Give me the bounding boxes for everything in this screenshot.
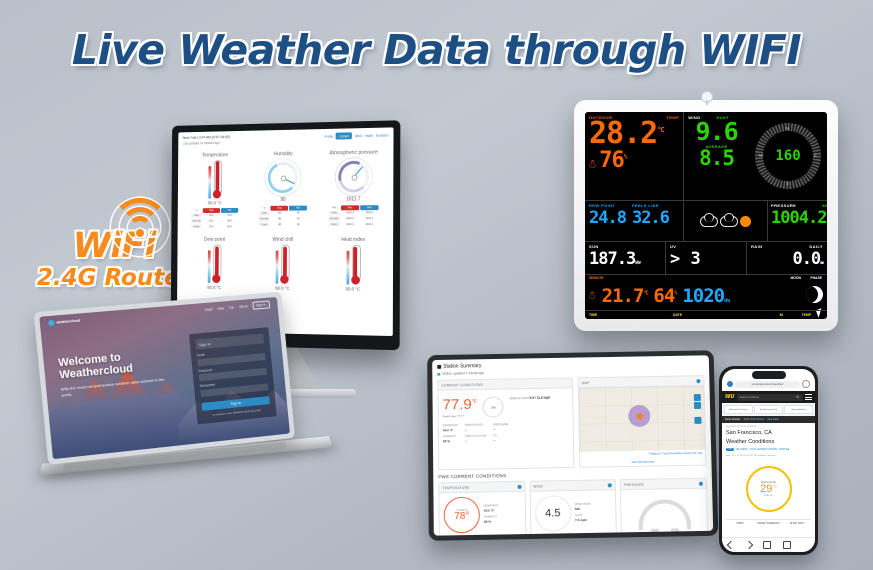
- page-title: Live Weather Data through WIFI: [0, 26, 873, 74]
- card-heat-index: Heat index 50.0 °C: [317, 234, 389, 292]
- card-temperature: Temperature 50.0 °C °C Max Min: [181, 149, 249, 229]
- stat-precip: PRECIP RATE--PRECIP ACCUM--: [465, 423, 486, 444]
- row-period: Daily: [259, 211, 270, 216]
- last-updated-text: Last updated 14 minutes ago: [183, 140, 230, 146]
- wind-gust-value: 9.6: [688, 120, 745, 144]
- header-text: WIND: [533, 484, 543, 488]
- pressure-minmax-table: hPa Max Min Daily1013.31011.4 Monthly101…: [328, 205, 378, 227]
- row-min: 46.0: [221, 219, 238, 223]
- card-body: 4.5 WIND FROM SW GUST 7.6 mph: [530, 490, 616, 535]
- search-placeholder: Search Locations: [740, 396, 759, 399]
- wind-direction-value: 160: [775, 148, 800, 164]
- view-wundermap-link[interactable]: View Wundermap: [580, 457, 705, 467]
- weather-station-console: OUTDOOR TEMP 28.2°C ☃ 76%: [574, 100, 838, 331]
- lcd-row-sun-uv-rain: SUN 187.3W/m² UV > 3 RAIN DAILY 0.0mm: [585, 242, 827, 275]
- stat-pressure: PRESSURE--UV--: [493, 422, 509, 443]
- table-row: Yearly1013.31011.4: [328, 222, 378, 227]
- dew-panel: DEW POINT 24.8 FEELS LIKE 32.6: [585, 201, 684, 241]
- thermometer-icon: [276, 245, 289, 284]
- lcd-row-clock: TIME DATE IN TEMP 10:58 FRI 1909 27.3°C6…: [585, 311, 827, 319]
- pressure-value: 1004.2hPa: [771, 208, 827, 228]
- heat-index-value: 50.0 °C: [317, 286, 389, 292]
- outdoor-humidity-unit: %: [624, 153, 627, 160]
- zoom-in-button[interactable]: [694, 394, 701, 401]
- tab-today[interactable]: TODAY: [726, 520, 754, 528]
- stat-value: 7.6 mph: [575, 518, 591, 524]
- card-title: Dew point: [181, 237, 248, 243]
- min-header: Min: [360, 205, 378, 210]
- forecast-icons: [684, 201, 767, 241]
- pressure-gauge: [335, 157, 372, 195]
- header-text: CURRENT CONDITIONS: [441, 382, 483, 387]
- tab-profile[interactable]: Profile: [325, 134, 334, 138]
- nav-about[interactable]: About: [239, 304, 248, 309]
- temperature-stats: DEWPOINT 59.2 °F HUMIDITY 88 %: [484, 503, 499, 525]
- temp-label: TEMP: [667, 115, 680, 120]
- station-location: New York | 3:47 AM (UTC-04:00) Last upda…: [183, 135, 230, 146]
- info-icon[interactable]: [608, 483, 612, 487]
- pressure-dial: [638, 499, 691, 530]
- row-period: Yearly: [259, 222, 270, 226]
- browser-toolbar[interactable]: [722, 537, 815, 552]
- row-max: 1013.3: [341, 216, 359, 221]
- date-label: DATE: [673, 313, 682, 317]
- header-text: TEMPERATURE: [442, 485, 469, 489]
- coordinates-text: See 98701, 37.78 N, 122.69 W: [726, 426, 811, 428]
- online-dot-icon: [437, 372, 440, 375]
- laptop-screen: weathercloud Maps Map Top About Sign in …: [39, 297, 290, 459]
- max-header: Max: [341, 205, 359, 210]
- humidity-gauge: [265, 158, 301, 195]
- tabs-icon[interactable]: [803, 542, 809, 548]
- summary-row: CURRENT CONDITIONS 77.9°F Feels Like 77.…: [437, 375, 706, 470]
- phone-screen: wunderground.com/weather/ WU Search Loca…: [722, 369, 815, 552]
- header-text: MAP: [582, 381, 590, 385]
- wind-gust-value: 6.9 / 11.6 mph: [530, 396, 551, 400]
- humidity-value: 90: [249, 196, 318, 202]
- card-humidity: Humidity 90 % Max M: [248, 147, 318, 228]
- row-max: 50.2: [203, 213, 220, 217]
- poster-stage: Live Weather Data through WIFI WiFi 2.4G…: [0, 0, 873, 570]
- min-header: Min: [289, 205, 307, 210]
- row-max: 98: [271, 222, 289, 227]
- row-max: 98: [271, 217, 289, 222]
- row-max: 98: [271, 211, 289, 216]
- alert-link-view[interactable]: View Alerts: [767, 419, 778, 421]
- stat-dewpoint: DEWPOINT59.2 °FHUMIDITY88 %: [443, 423, 458, 444]
- outdoor-temp-unit: °C: [657, 126, 663, 134]
- card-title: Wind chill: [248, 237, 317, 243]
- lcd-row-outdoor-wind: OUTDOOR TEMP 28.2°C ☃ 76%: [585, 112, 827, 201]
- outdoor-temp-value: 28.2: [589, 116, 657, 151]
- nav-maps[interactable]: Maps: [204, 307, 212, 312]
- sensor-icon: ☃: [589, 289, 596, 302]
- row-max: 50.2: [203, 219, 220, 223]
- card-body: CURRENT 78° DEWPOINT 59.2 °F HUMIDITY 88…: [439, 492, 525, 536]
- sensor-temperature: 21.7°C: [602, 285, 648, 307]
- stat-value: SW: [575, 507, 591, 513]
- title-text: Station Summary: [443, 363, 481, 370]
- row-max: 1013.3: [341, 211, 359, 216]
- dew-point-value: 24.8: [589, 208, 626, 228]
- row-period: Yearly: [328, 222, 339, 227]
- card-body: 77.9°F Feels Like 77.7 ° SW WIND & GUST …: [438, 388, 572, 423]
- thermometer-icon: [346, 245, 360, 285]
- row-period: Monthly: [259, 217, 270, 221]
- station-icon: [437, 365, 441, 369]
- row-max: 50.2: [203, 224, 220, 228]
- wind-speed-value: 4.5: [545, 507, 561, 519]
- wu-logo[interactable]: WU: [725, 394, 735, 400]
- table-row: Daily9890: [259, 211, 308, 216]
- temperature-value: 29°C: [760, 484, 777, 496]
- row-period: Monthly: [191, 219, 202, 223]
- row-min: 1011.4: [360, 216, 378, 221]
- alert-link-advisory[interactable]: Small Craft Advisory: [744, 419, 765, 421]
- home-icon[interactable]: [763, 541, 771, 549]
- sensor-humidity: 64%: [653, 285, 676, 307]
- url-text[interactable]: wunderground.com/weather/: [735, 381, 800, 388]
- tab-evolution[interactable]: Evolution: [376, 133, 389, 137]
- pws-temperature-card: TEMPERATURE CURRENT 78° DEWPOINT 59.2 °F…: [438, 481, 526, 536]
- tab-hourly[interactable]: HOURLY FORECAST: [754, 520, 782, 528]
- weathercloud-logo[interactable]: weathercloud: [48, 317, 80, 326]
- lcd-display: OUTDOOR TEMP 28.2°C ☃ 76%: [585, 112, 827, 319]
- row-min: 90: [289, 211, 307, 216]
- nav-signin-button[interactable]: Sign in: [252, 300, 270, 309]
- moon-label: MOON: [790, 276, 801, 280]
- table-row: Monthly9890: [259, 216, 308, 221]
- cloud-icon: [720, 216, 738, 227]
- card-pressure: Atmospheric pressure 1011.7 hPa Max: [318, 146, 390, 229]
- card-body: [621, 489, 707, 535]
- map-controls[interactable]: [694, 394, 702, 424]
- table-row: Monthly50.246.0: [191, 219, 238, 224]
- pressure-panel: PRESSURE ABS 1004.2hPa: [767, 201, 827, 241]
- feels-like-text: Feels Like 77.7 °: [443, 414, 477, 419]
- stat-value: 59.2 °F: [484, 508, 499, 514]
- card-title: Temperature: [182, 151, 249, 158]
- max-header: Max: [271, 205, 289, 210]
- pws-cards-row: TEMPERATURE CURRENT 78° DEWPOINT 59.2 °F…: [438, 478, 708, 536]
- card-title: Humidity: [249, 150, 318, 157]
- reload-icon[interactable]: [802, 380, 810, 388]
- row-min: 90: [289, 222, 307, 227]
- current-temperature: 77.9°F: [443, 397, 477, 412]
- in-label: IN: [780, 313, 783, 317]
- phase-label: PHASE: [810, 276, 822, 280]
- table-row: Yearly9890: [259, 222, 308, 227]
- map-card: MAP © Mapbox © OpenStreetMap Improve thi…: [578, 375, 707, 468]
- info-icon[interactable]: [517, 484, 521, 488]
- stat-label: WIND FROM: [575, 503, 591, 506]
- zoom-out-button[interactable]: [694, 402, 701, 409]
- row-min: 1011.4: [360, 222, 378, 227]
- site-navbar: weathercloud Maps Map Top About Sign in: [39, 297, 278, 330]
- in-temp-label: TEMP: [802, 313, 811, 317]
- weather-forecast-panel: PRESSURE ABS 1004.2hPa: [684, 201, 827, 241]
- search-input[interactable]: Search Locations 🔍: [737, 394, 803, 401]
- wifi-router-badge: WiFi 2.4G Router: [34, 196, 194, 291]
- unit-label: °C: [191, 209, 202, 212]
- time-label: TIME: [589, 313, 597, 317]
- thermometer-icon: [208, 245, 221, 284]
- wind-direction-text: SW: [491, 405, 496, 409]
- row-period: Daily: [328, 211, 339, 216]
- promo-chips[interactable]: Hurricane & Tropical San Francisco City …: [722, 403, 815, 416]
- uv-panel: UV > 3: [666, 242, 747, 274]
- chip-severe[interactable]: Severe Weather: [784, 405, 813, 414]
- row-max: 1013.3: [341, 222, 359, 227]
- cloud-icon: [700, 216, 718, 227]
- card-title: Heat index: [318, 237, 390, 243]
- feels-like-value: 32.6: [632, 208, 669, 228]
- alert-text: Active Advisory: [725, 419, 741, 421]
- rain-panel: RAIN DAILY 0.0mm: [747, 242, 827, 274]
- outdoor-panel: OUTDOOR TEMP 28.2°C ☃ 76%: [585, 112, 684, 200]
- wind-direction-dial: SW: [483, 396, 504, 417]
- bookmarks-icon[interactable]: [783, 541, 791, 549]
- menu-icon[interactable]: [805, 394, 812, 400]
- min-header: Min: [221, 208, 238, 213]
- shield-icon[interactable]: [727, 381, 733, 387]
- card-wind-chill: Wind chill 50.0 °C: [248, 234, 318, 291]
- hero-block: Welcome to Weathercloud With the most co…: [58, 348, 173, 399]
- search-icon[interactable]: 🔍: [797, 396, 800, 399]
- uv-value: > 3: [670, 249, 742, 269]
- wind-values: WIND GUST 9.6 AVERAGE 8.5: [684, 112, 749, 200]
- unit-label: %: [259, 206, 270, 209]
- condition-stats: DEWPOINT59.2 °FHUMIDITY88 % PRECIP RATE-…: [439, 421, 573, 449]
- row-min: 46.0: [221, 213, 238, 217]
- lcd-row-sensor: SENSOR ☃ 21.7°C 64% 1020hPa MOON PHASE: [585, 275, 827, 311]
- moon-phase-icon: [806, 286, 823, 303]
- tab-inside[interactable]: Inside: [365, 133, 373, 137]
- bottom-cards-row: Dew point 50.0 °C Wind chill: [177, 232, 393, 292]
- wu-header: WU Search Locations 🔍: [722, 391, 815, 403]
- antenna-icon: [701, 91, 713, 103]
- temperature-ring: Mostly Cloudy 29°C LIKE 29°: [746, 466, 792, 512]
- compass-icon: N S W E 160: [755, 123, 821, 189]
- row-period: Daily: [191, 213, 202, 217]
- tablet-screen: Station Summary Online, updated 1 minute…: [432, 355, 713, 535]
- card-title: Atmospheric pressure: [318, 149, 389, 156]
- temperature-minmax-table: °C Max Min Daily50.246.0 Monthly50.246.0…: [191, 208, 238, 229]
- tablet: Station Summary Online, updated 1 minute…: [427, 350, 718, 541]
- stat-label: DEWPOINT: [484, 504, 499, 507]
- wind-panel: WIND GUST 9.6 AVERAGE 8.5 N S: [684, 112, 827, 200]
- comfort-icon: ☃: [589, 157, 596, 171]
- row-min: 1011.4: [360, 211, 378, 216]
- solar-panel: SUN 187.3W/m²: [585, 242, 666, 274]
- layers-button[interactable]: [694, 417, 701, 424]
- sensor-label: SENSOR: [589, 276, 603, 280]
- temp-block: 77.9°F Feels Like 77.7 °: [443, 397, 477, 418]
- station-badge: PWS: [726, 448, 734, 451]
- chip-city[interactable]: San Francisco City: [754, 405, 783, 414]
- back-icon[interactable]: [727, 541, 735, 549]
- station-name[interactable]: VAN NESS - CIVIC CENTER STATION | CHANGE: [736, 448, 790, 451]
- pressure-value: 1011.7: [318, 196, 389, 202]
- table-row: Yearly50.246.0: [191, 224, 238, 228]
- table-row: Monthly1013.31011.4: [328, 216, 378, 221]
- wind-stats: WIND FROM SW GUST 7.6 mph: [575, 502, 591, 524]
- pws-pressure-card: PRESSURE: [620, 478, 708, 536]
- forward-icon[interactable]: [744, 541, 752, 549]
- table-row: Daily50.246.0: [191, 213, 238, 218]
- tab-current[interactable]: Current: [336, 132, 352, 139]
- wind-speed-dial: 4.5: [534, 495, 571, 532]
- stat-label: GUST: [575, 514, 583, 517]
- top-cards-row: Temperature 50.0 °C °C Max Min: [178, 144, 394, 229]
- tab-wind[interactable]: Wind: [355, 134, 362, 138]
- compass-s: S: [786, 181, 789, 186]
- header-text: PRESSURE: [624, 482, 644, 486]
- outdoor-temperature: 28.2°C: [589, 120, 679, 149]
- nav-top[interactable]: Top: [229, 305, 235, 309]
- compass-e: E: [814, 153, 817, 158]
- feels-like-label: LIKE 29°: [764, 495, 773, 497]
- thermometer-icon: [208, 160, 221, 198]
- current-conditions-card: CURRENT CONDITIONS 77.9°F Feels Like 77.…: [437, 377, 574, 470]
- outdoor-humidity-value: 76: [599, 148, 624, 173]
- compass-n: N: [786, 126, 789, 131]
- location-heading: San Francisco, CA: [726, 430, 811, 437]
- clock-time: 10:58: [589, 318, 647, 319]
- wind-gust-label: WIND & GUST: [510, 396, 529, 400]
- laptop-lid: weathercloud Maps Map Top About Sign in …: [34, 292, 295, 465]
- signin-form[interactable]: Sign in Email Password Remember Sign in …: [189, 327, 277, 424]
- temperature-ring: CURRENT 78°: [444, 497, 481, 534]
- row-min: 90: [289, 216, 307, 221]
- sensor-pressure: 1020hPa: [682, 285, 729, 307]
- laptop: weathercloud Maps Map Top About Sign in …: [28, 287, 339, 544]
- info-icon[interactable]: [699, 481, 703, 485]
- unit-label: hPa: [328, 206, 339, 209]
- map-canvas[interactable]: [579, 386, 705, 452]
- solar-value: 187.3W/m²: [589, 249, 661, 269]
- station-selector[interactable]: PWS VAN NESS - CIVIC CENTER STATION | CH…: [726, 448, 811, 451]
- rain-label: RAIN: [751, 244, 762, 249]
- conditions-heading: Weather Conditions: [726, 439, 811, 446]
- humidity-minmax-table: % Max Min Daily9890 Monthly9890 Yearly98…: [259, 205, 308, 226]
- elevation-note: Elev 217 ft, 37.78 °N, 122.42 °W | Updat…: [726, 455, 811, 458]
- wind-compass-area: N S W E 160: [749, 112, 827, 200]
- dew-point-value: 50.0 °C: [181, 285, 248, 291]
- compass-w: W: [759, 153, 763, 158]
- stat-value: 88 %: [484, 520, 499, 526]
- outdoor-humidity: 76%: [599, 151, 626, 172]
- chip-hurricane[interactable]: Hurricane & Tropical: [724, 405, 753, 414]
- status-text: Online, updated 1 minute ago: [442, 371, 484, 376]
- phone-notch: [752, 371, 786, 379]
- nav-map[interactable]: Map: [217, 306, 224, 310]
- smartphone: wunderground.com/weather/ WU Search Loca…: [719, 366, 818, 555]
- dashboard-tabs[interactable]: Profile Current Wind Inside Evolution: [325, 131, 389, 139]
- temperature-value: 50.0 °C: [181, 200, 248, 205]
- table-row: Daily1013.31011.4: [328, 211, 378, 216]
- sun-icon: [740, 216, 751, 227]
- pws-wind-card: WIND 4.5 WIND FROM SW GUST 7.6 mph: [529, 479, 617, 535]
- logo-text: weathercloud: [56, 318, 80, 324]
- row-period: Yearly: [191, 224, 202, 228]
- tab-ten-day[interactable]: 10 DAY FCST: [783, 520, 811, 528]
- logo-mark-icon: [48, 319, 55, 326]
- ring-value: 78°: [454, 511, 469, 521]
- hero-title: Welcome to Weathercloud: [58, 348, 171, 382]
- max-header: Max: [203, 208, 220, 213]
- card-dew-point: Dew point 50.0 °C: [181, 234, 249, 290]
- alert-banner[interactable]: Active Advisory Small Craft Advisory Vie…: [722, 416, 815, 423]
- lcd-row-dew-weather-pressure: DEW POINT 24.8 FEELS LIKE 32.6: [585, 201, 827, 242]
- row-min: 46.0: [221, 224, 238, 228]
- forecast-tabs[interactable]: TODAY HOURLY FORECAST 10 DAY FCST: [726, 519, 811, 528]
- stat-label: HUMIDITY: [484, 515, 497, 518]
- navbar-links[interactable]: Maps Map Top About Sign in: [204, 300, 270, 313]
- wind-gust-block: WIND & GUST 6.9 / 11.6 mph: [510, 396, 551, 402]
- rain-value: 0.0mm: [751, 249, 823, 269]
- phone-content: See 98701, 37.78 N, 122.69 W San Francis…: [722, 423, 815, 531]
- info-icon[interactable]: [696, 379, 700, 383]
- row-period: Monthly: [328, 216, 339, 221]
- wind-average-value: 8.5: [688, 149, 745, 169]
